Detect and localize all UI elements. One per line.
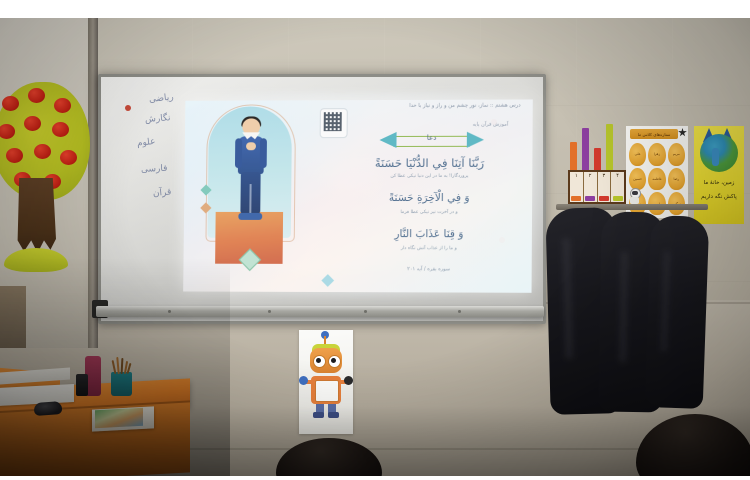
verse-note-2: و در آخرت نیز نیکی عطا فرما — [333, 210, 526, 215]
verse-line-1: رَبَّنَا آتِنَا فِي الدُّنْيَا حَسَنَةً — [333, 156, 526, 170]
chart-cell-number: ۲ — [589, 173, 592, 179]
chart-bar — [582, 128, 589, 172]
paper-apple-tree — [0, 82, 90, 282]
coat-highlight — [562, 238, 573, 358]
verse-line-3: وَ قِنَا عَذَابَ النَّارِ — [333, 228, 526, 240]
chart-cell-chip — [613, 196, 623, 201]
name-bubble: حسین — [629, 168, 646, 191]
qr-code-icon[interactable] — [324, 112, 342, 131]
tree-grass — [4, 248, 68, 272]
tray-dot — [458, 310, 461, 313]
tray-dot — [364, 310, 367, 313]
chart-bar — [606, 124, 613, 172]
letterbox-top — [0, 0, 750, 18]
whiteboard-marker-tray — [96, 306, 544, 317]
classroom-photo: ریاضی نگارش علوم فارسی قرآن درس هشتم :: … — [0, 18, 750, 476]
letterbox-bottom — [0, 476, 750, 480]
bubble-label: رضا — [674, 177, 680, 181]
chart-bar — [570, 142, 577, 172]
robot-pupil — [331, 358, 336, 363]
screenshot-root: ریاضی نگارش علوم فارسی قرآن درس هشتم :: … — [0, 0, 750, 480]
globe-figure — [712, 148, 719, 166]
robot-chest-panel — [315, 380, 339, 402]
hanging-coat — [645, 215, 710, 409]
apple-icon — [60, 150, 77, 165]
chart-cell-chip — [571, 196, 581, 201]
robot-pupil — [316, 358, 321, 363]
chart-cell-chip — [599, 196, 609, 201]
bubble-label: مریم — [673, 152, 680, 156]
astronaut-body — [630, 197, 639, 204]
bubble-label: زهرا — [654, 152, 660, 156]
chart-table-cell: ۱ — [570, 172, 584, 202]
chart-cell-number: ۴ — [616, 173, 619, 179]
chart-cell-chip — [585, 196, 595, 201]
boy-leg-split — [249, 184, 251, 214]
door-dark-panel — [0, 286, 26, 348]
name-bubble: رضا — [668, 168, 685, 191]
magnet-icon — [125, 105, 131, 111]
verse-line-2: وَ فِي الْآخِرَةِ حَسَنَةً — [333, 192, 526, 204]
tree-trunk — [16, 178, 56, 256]
chart-table: ۱ ۲ ۳ ۴ — [568, 170, 626, 204]
chart-table-cell: ۲ — [584, 172, 598, 202]
poster-banner: ستاره‌های کلاس ما — [630, 129, 678, 139]
slide-ribbon-title: دعا — [379, 134, 484, 142]
projected-slide: درس هشتم :: نماز، نور چشم من و راز و نیا… — [183, 99, 533, 292]
boy-arm-left — [235, 138, 242, 168]
robot-hand-right — [344, 376, 353, 388]
boy-feet — [238, 213, 262, 220]
pen-cup — [111, 372, 132, 396]
coat-highlight — [619, 252, 628, 362]
coat-highlight — [661, 252, 670, 352]
chart-table-cell: ۳ — [598, 172, 612, 202]
robot-drawing-poster — [299, 330, 353, 434]
book-illustration — [95, 408, 143, 429]
bubble-label: علی — [635, 152, 641, 156]
poster-banner-text: ستاره‌های کلاس ما — [638, 132, 671, 137]
apple-icon — [6, 148, 23, 163]
chart-table-cell: ۴ — [611, 172, 624, 202]
praying-boy-illustration — [235, 118, 266, 222]
computer-mouse — [34, 401, 63, 416]
chart-bar — [594, 148, 601, 172]
whiteboard-handwriting: قرآن — [153, 187, 172, 199]
verse-note-3: و ما را از عذاب آتش نگاه دار — [333, 246, 526, 251]
chart-cell-number: ۱ — [575, 173, 578, 179]
apple-icon — [24, 116, 41, 131]
astronaut-icon — [628, 188, 640, 204]
apple-icon — [28, 88, 45, 103]
boy-hands — [246, 142, 256, 150]
chart-cell-number: ۳ — [603, 173, 606, 179]
dark-desk-object — [76, 374, 88, 396]
star-icon — [678, 128, 687, 137]
verse-note-1: پروردگارا! به ما در این دنیا نیکی عطا کن — [333, 174, 526, 179]
slide-header-text: درس هشتم :: نماز، نور چشم من و راز و نیا… — [409, 103, 520, 109]
bubble-label: حسین — [633, 177, 642, 181]
slide-subheader-text: آموزش قرآن پایه — [472, 122, 508, 128]
apple-icon — [34, 144, 51, 159]
robot-foot-left — [313, 412, 324, 418]
earth-poster-line-1: زمین، خانهٔ ما — [696, 180, 742, 186]
robot-hand-left — [299, 376, 308, 388]
name-bubble: مریم — [668, 143, 685, 166]
earth-poster-line-2: پاکش نگه داریم — [696, 194, 742, 200]
bar-chart-poster: ۱ ۲ ۳ ۴ — [566, 124, 624, 208]
apple-icon — [54, 98, 71, 113]
name-bubble: علی — [629, 143, 646, 166]
apple-icon — [52, 122, 69, 137]
boy-arm-right — [260, 138, 267, 168]
globe-icon — [700, 134, 738, 172]
robot-foot-right — [328, 412, 339, 418]
tray-dot — [268, 310, 271, 313]
slide-footer-reference: سوره بقره / آیه ۲۰۱ — [332, 266, 525, 273]
bubble-label: فاطمه — [652, 177, 661, 181]
apple-icon — [2, 96, 19, 111]
tray-dot — [168, 310, 171, 313]
whiteboard-handwriting: فارسی — [141, 164, 168, 175]
name-bubble: زهرا — [648, 143, 665, 166]
astronaut-visor — [632, 191, 638, 195]
name-bubble: فاطمه — [648, 168, 665, 191]
whiteboard-handwriting: نگارش — [145, 113, 171, 125]
